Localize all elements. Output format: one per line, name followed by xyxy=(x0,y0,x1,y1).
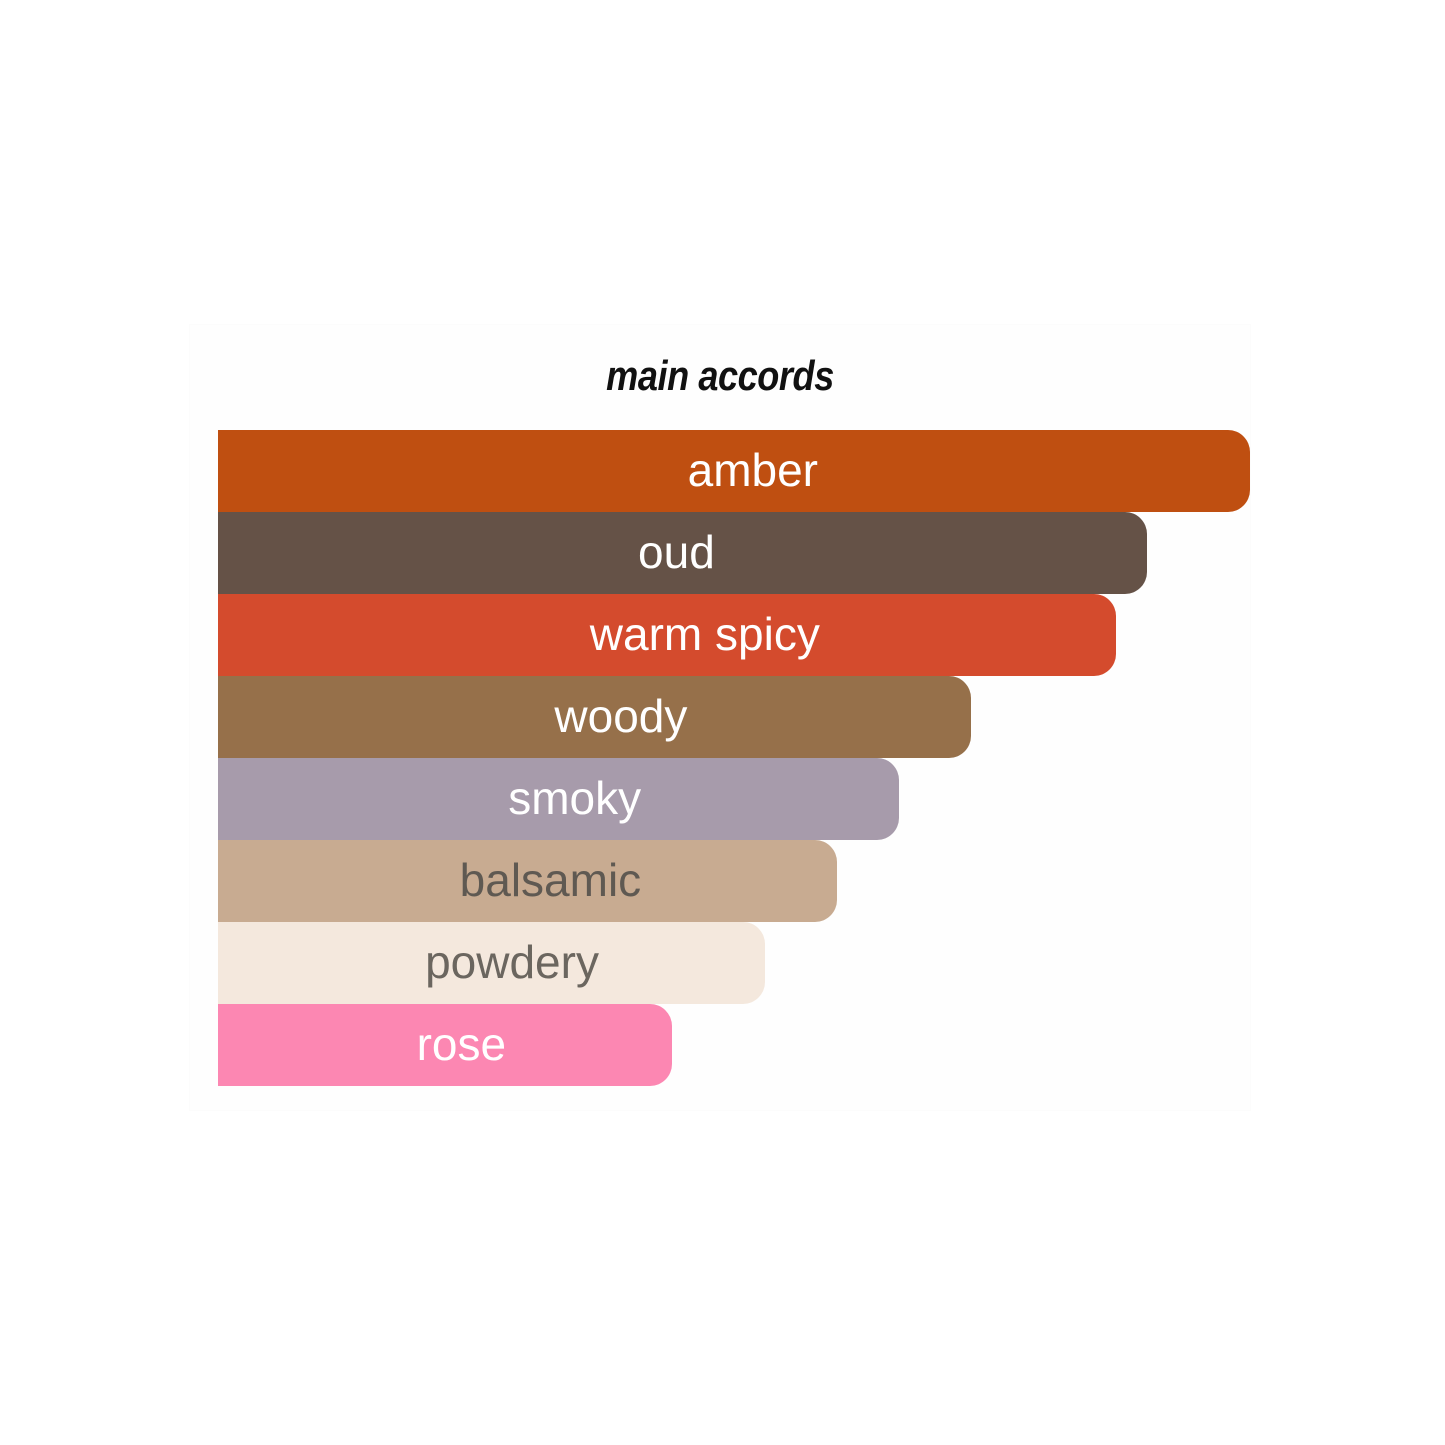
accord-label: rose xyxy=(417,1021,506,1067)
accord-bar-powdery[interactable]: powdery xyxy=(218,922,765,1004)
accord-bar-balsamic[interactable]: balsamic xyxy=(218,840,837,922)
accord-bar-smoky[interactable]: smoky xyxy=(218,758,899,840)
page-title: main accords xyxy=(264,352,1176,400)
accord-bar-amber[interactable]: amber xyxy=(218,430,1250,512)
accord-label: balsamic xyxy=(460,857,642,903)
accord-label: warm spicy xyxy=(590,611,820,657)
accord-label: smoky xyxy=(508,775,641,821)
accords-bar-chart: amberoudwarm spicywoodysmokybalsamicpowd… xyxy=(218,430,1250,1086)
accord-label: oud xyxy=(638,529,715,575)
accord-label: amber xyxy=(688,447,818,493)
accords-page: main accords amberoudwarm spicywoodysmok… xyxy=(0,0,1445,1445)
accord-label: woody xyxy=(554,693,687,739)
accord-bar-woody[interactable]: woody xyxy=(218,676,971,758)
accord-bar-rose[interactable]: rose xyxy=(218,1004,672,1086)
accord-bar-oud[interactable]: oud xyxy=(218,512,1147,594)
accord-bar-warm-spicy[interactable]: warm spicy xyxy=(218,594,1116,676)
main-accords-card: main accords amberoudwarm spicywoodysmok… xyxy=(190,325,1250,1110)
accord-label: powdery xyxy=(425,939,599,985)
